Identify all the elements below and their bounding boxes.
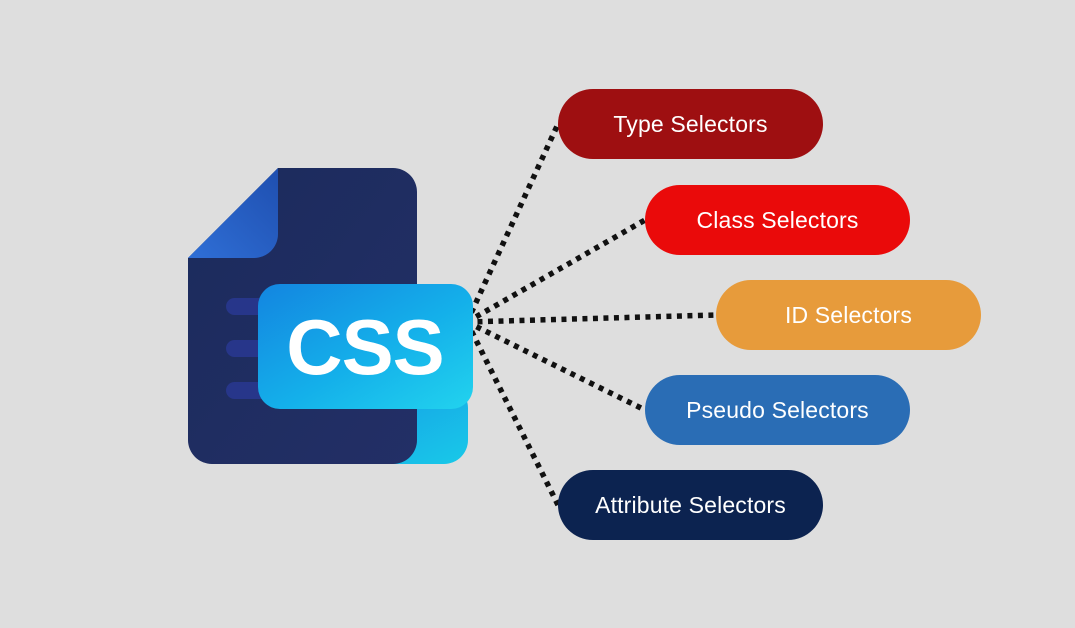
node-type-selectors[interactable]: Type Selectors <box>558 89 823 159</box>
connector-line-type-selectors <box>467 124 558 322</box>
node-label-class-selectors: Class Selectors <box>696 209 858 232</box>
node-label-id-selectors: ID Selectors <box>785 304 912 327</box>
node-class-selectors[interactable]: Class Selectors <box>645 185 910 255</box>
node-pseudo-selectors[interactable]: Pseudo Selectors <box>645 375 910 445</box>
css-icon-badge: CSS <box>258 284 473 409</box>
css-icon-badge-label: CSS <box>286 303 443 391</box>
connector-line-class-selectors <box>467 220 645 322</box>
css-icon-folded-corner <box>188 168 278 258</box>
css-file-icon: CSS <box>188 168 478 474</box>
connector-line-attribute-selectors <box>467 322 558 505</box>
node-attribute-selectors[interactable]: Attribute Selectors <box>558 470 823 540</box>
connector-line-id-selectors <box>467 315 716 322</box>
node-label-type-selectors: Type Selectors <box>613 113 767 136</box>
node-label-attribute-selectors: Attribute Selectors <box>595 494 786 517</box>
node-id-selectors[interactable]: ID Selectors <box>716 280 981 350</box>
connector-line-pseudo-selectors <box>467 322 645 410</box>
diagram-canvas: CSS Type Selectors Class Selectors ID Se… <box>0 0 1075 628</box>
node-label-pseudo-selectors: Pseudo Selectors <box>686 399 869 422</box>
